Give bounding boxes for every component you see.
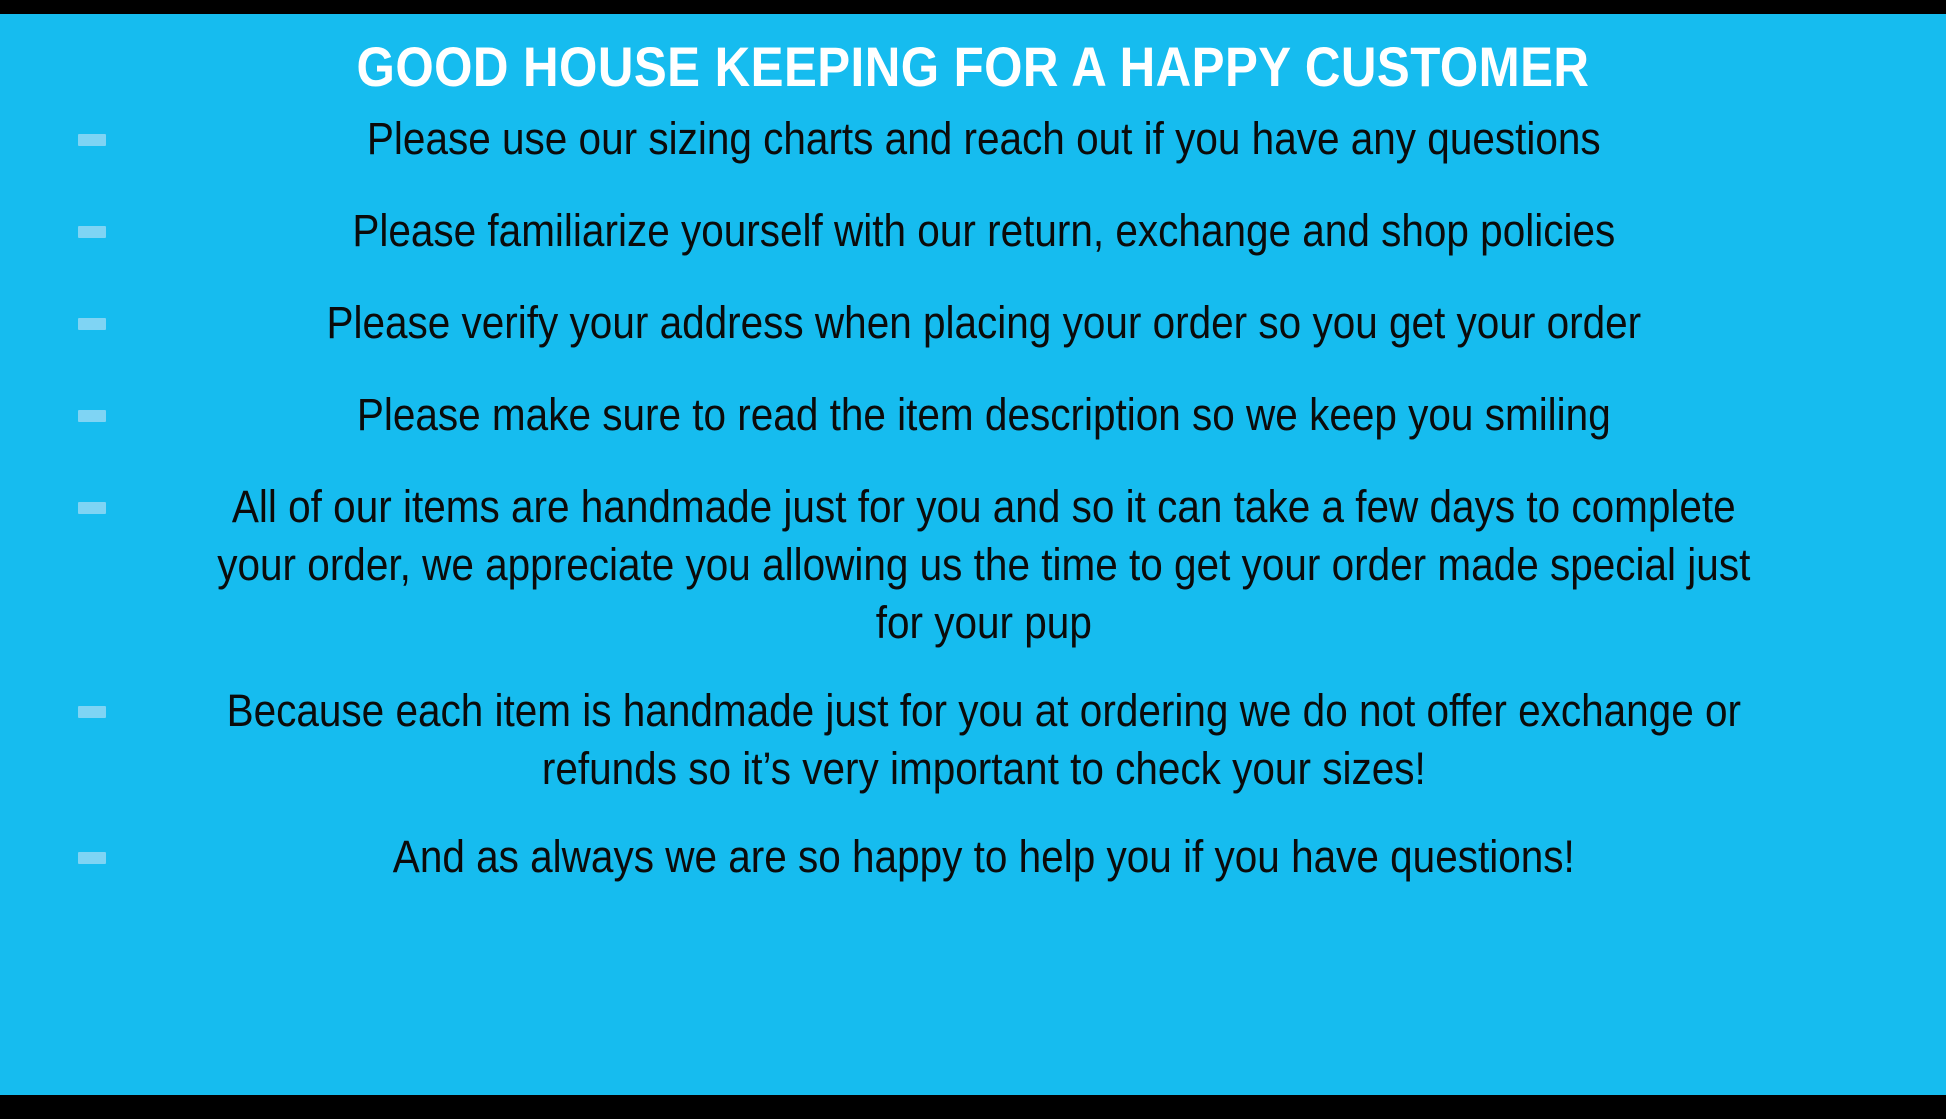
list-item: Please make sure to read the item descri… [0,386,1946,444]
page-title: GOOD HOUSE KEEPING FOR A HAPPY CUSTOMER [117,36,1829,98]
bullet-list: Please use our sizing charts and reach o… [0,110,1946,886]
list-item: Please familiarize yourself with our ret… [0,202,1946,260]
list-item-label: Please familiarize yourself with our ret… [97,202,1848,260]
list-item: Please verify your address when placing … [0,294,1946,352]
list-item-label: Please verify your address when placing … [97,294,1848,352]
list-item: Please use our sizing charts and reach o… [0,110,1946,168]
list-item: All of our items are handmade just for y… [0,478,1946,652]
list-item-label: Because each item is handmade just for y… [97,682,1848,798]
slide-frame: GOOD HOUSE KEEPING FOR A HAPPY CUSTOMER … [0,0,1946,1119]
list-item-label: And as always we are so happy to help yo… [97,828,1848,886]
letterbox-bottom-bar [0,1095,1946,1119]
list-item: And as always we are so happy to help yo… [0,828,1946,886]
slide-canvas: GOOD HOUSE KEEPING FOR A HAPPY CUSTOMER … [0,14,1946,1095]
letterbox-top-bar [0,0,1946,14]
list-item-label: Please use our sizing charts and reach o… [97,110,1848,168]
list-item: Because each item is handmade just for y… [0,682,1946,798]
list-item-label: Please make sure to read the item descri… [97,386,1848,444]
list-item-label: All of our items are handmade just for y… [97,478,1848,652]
